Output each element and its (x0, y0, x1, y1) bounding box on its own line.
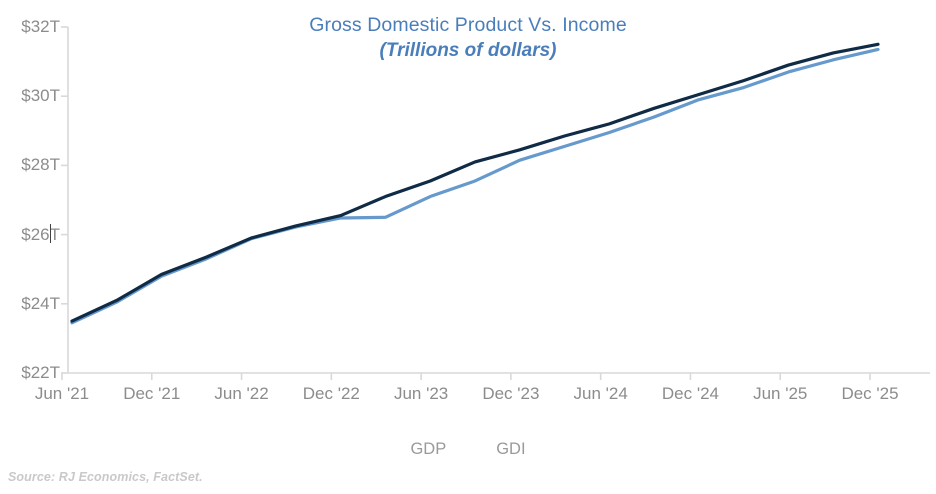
x-axis-tick-label: Dec '22 (281, 385, 381, 403)
x-axis-tick-label: Dec '25 (820, 385, 920, 403)
legend-label: GDP (410, 440, 446, 458)
legend-item-gdp[interactable]: GDP (410, 440, 446, 459)
x-axis-tick-label: Dec '21 (102, 385, 202, 403)
x-axis-tick-label: Jun '22 (192, 385, 292, 403)
chart-legend: GDPGDI (0, 440, 936, 459)
x-axis-tick-label: Jun '24 (551, 385, 651, 403)
x-axis-tick-label: Dec '24 (640, 385, 740, 403)
legend-item-gdi[interactable]: GDI (496, 440, 525, 459)
source-note: Source: RJ Economics, FactSet. (8, 470, 203, 484)
legend-label: GDI (496, 440, 525, 458)
x-axis-labels: Jun '21Dec '21Jun '22Dec '22Jun '23Dec '… (0, 0, 936, 494)
x-axis-tick-label: Jun '21 (12, 385, 112, 403)
x-axis-tick-label: Dec '23 (461, 385, 561, 403)
x-axis-tick-label: Jun '25 (730, 385, 830, 403)
text-caret (50, 224, 51, 243)
x-axis-tick-label: Jun '23 (371, 385, 471, 403)
chart-container: Gross Domestic Product Vs. Income (Trill… (0, 0, 936, 494)
